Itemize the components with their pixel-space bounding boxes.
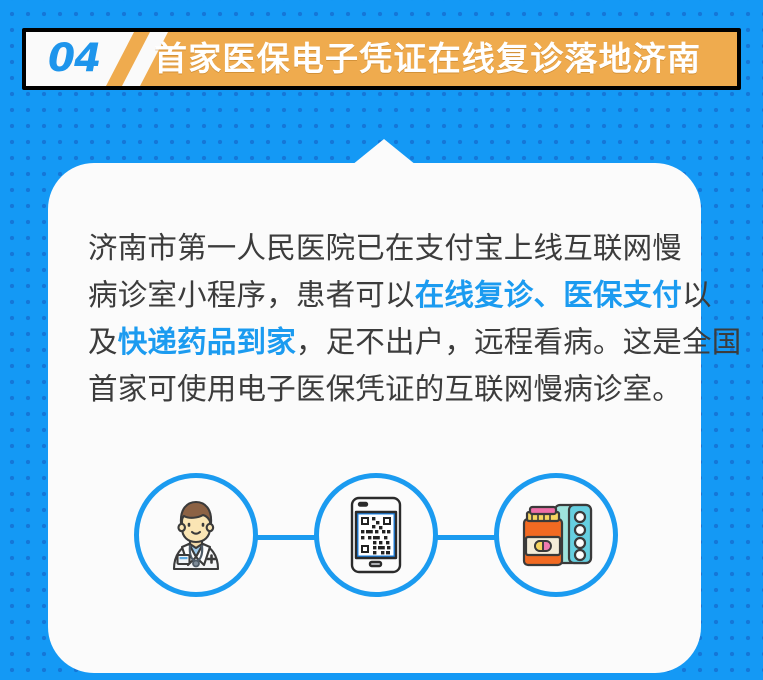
text-run: 以 <box>682 278 712 312</box>
paragraph-block: 济南市第一人民医院已在支付宝上线互联网慢 病诊室小程序，患者可以在线复诊、医保支… <box>88 225 668 413</box>
card-pointer-triangle <box>352 139 416 165</box>
content-card: 济南市第一人民医院已在支付宝上线互联网慢 病诊室小程序，患者可以在线复诊、医保支… <box>48 163 701 673</box>
process-icon-row <box>48 473 701 603</box>
text-run: 济南市第一人民医院已在支付宝上线互联网慢 <box>88 231 682 265</box>
paragraph-line: 首家可使用电子医保凭证的互联网慢病诊室。 <box>88 366 668 413</box>
paragraph-line: 及快递药品到家，足不出户，远程看病。这是全国 <box>88 319 668 366</box>
infographic-root: 04 首家医保电子凭证在线复诊落地济南 济南市第一人民医院已在支付宝上线互联网慢… <box>0 0 763 680</box>
text-run-highlight: 快递药品到家 <box>118 325 296 359</box>
text-run: 及 <box>88 325 118 359</box>
paragraph-line: 济南市第一人民医院已在支付宝上线互联网慢 <box>88 225 668 272</box>
header-banner-inner: 04 首家医保电子凭证在线复诊落地济南 <box>26 32 737 86</box>
phone-qrcode-icon <box>314 473 438 597</box>
header-banner: 04 首家医保电子凭证在线复诊落地济南 <box>22 28 741 90</box>
header-number: 04 <box>48 34 134 86</box>
paragraph-line: 病诊室小程序，患者可以在线复诊、医保支付以 <box>88 272 668 319</box>
text-run: 病诊室小程序，患者可以 <box>88 278 415 312</box>
text-run: ，足不出户，远程看病。这是全国 <box>296 325 742 359</box>
doctor-icon <box>134 473 258 597</box>
header-title: 首家医保电子凭证在线复诊落地济南 <box>154 32 701 86</box>
text-run-highlight: 在线复诊、医保支付 <box>415 278 682 312</box>
medicine-icon <box>494 473 618 597</box>
text-run: 首家可使用电子医保凭证的互联网慢病诊室。 <box>88 372 682 406</box>
